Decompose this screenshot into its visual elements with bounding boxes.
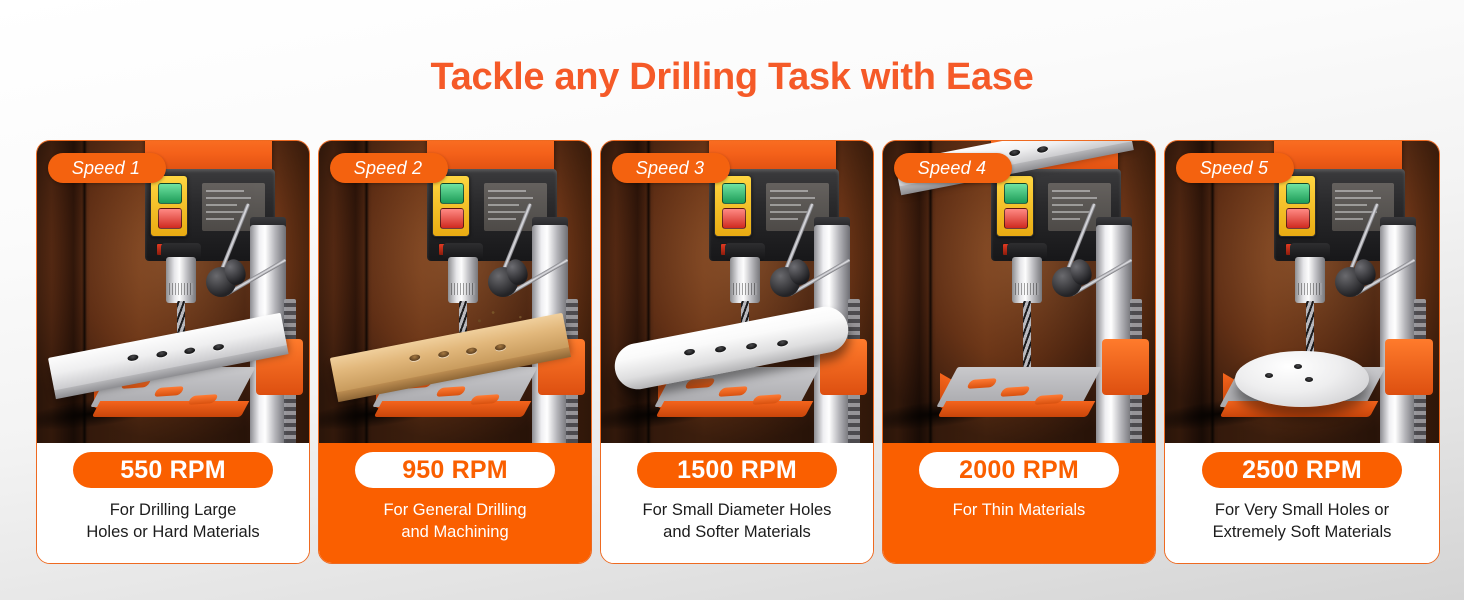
- card-photo: Speed 3: [601, 141, 873, 445]
- worktable-front: [373, 401, 531, 417]
- rpm-badge: 2000 RPM: [919, 452, 1119, 488]
- red-stop-button-icon: [440, 208, 464, 229]
- card-photo: Speed 2: [319, 141, 591, 445]
- chrome-column: [1380, 225, 1416, 445]
- card-photo: Speed 1: [37, 141, 309, 445]
- wall-seam: [364, 141, 369, 445]
- speed-card[interactable]: Speed 1 550 RPM For Drilling Large Holes…: [36, 140, 310, 564]
- chrome-column: [1096, 225, 1132, 445]
- card-footer: 550 RPM For Drilling Large Holes or Hard…: [37, 443, 309, 563]
- card-description: For Very Small Holes or Extremely Soft M…: [1176, 499, 1428, 543]
- card-footer: 2500 RPM For Very Small Holes or Extreme…: [1165, 443, 1439, 563]
- rpm-badge: 2500 RPM: [1202, 452, 1402, 488]
- green-start-button-icon: [158, 183, 182, 204]
- drill-bit: [1023, 301, 1031, 375]
- wall-seam: [646, 141, 651, 445]
- speed-card[interactable]: Speed 5 2500 RPM For Very Small Holes or…: [1164, 140, 1440, 564]
- table-bracket: [1102, 339, 1149, 395]
- drill-chuck: [730, 257, 760, 303]
- drill-chuck: [1012, 257, 1042, 303]
- rpm-badge: 1500 RPM: [637, 452, 837, 488]
- red-stop-button-icon: [722, 208, 746, 229]
- card-description: For Drilling Large Holes or Hard Materia…: [48, 499, 298, 543]
- drill-chuck: [1295, 257, 1325, 303]
- page-title: Tackle any Drilling Task with Ease: [0, 56, 1464, 99]
- red-stop-button-icon: [1286, 208, 1310, 229]
- card-footer: 2000 RPM For Thin Materials: [883, 443, 1155, 563]
- speed-badge: Speed 3: [612, 153, 730, 183]
- card-photo: Speed 5: [1165, 141, 1439, 445]
- speed-badge: Speed 4: [894, 153, 1012, 183]
- green-start-button-icon: [1286, 183, 1310, 204]
- worktable-front: [655, 401, 813, 417]
- wall-seam: [82, 141, 87, 445]
- drill-press-illustration: [319, 141, 591, 445]
- worktable-front: [91, 401, 249, 417]
- speed-card[interactable]: Speed 3 1500 RPM For Small Diameter Hole…: [600, 140, 874, 564]
- table-bracket: [1385, 339, 1432, 395]
- green-start-button-icon: [722, 183, 746, 204]
- red-stop-button-icon: [1004, 208, 1028, 229]
- drill-press-illustration: [37, 141, 309, 445]
- speed-badge: Speed 5: [1176, 153, 1294, 183]
- card-footer: 950 RPM For General Drilling and Machini…: [319, 443, 591, 563]
- speed-card-list: Speed 1 550 RPM For Drilling Large Holes…: [36, 140, 1428, 564]
- red-stop-button-icon: [158, 208, 182, 229]
- speed-card[interactable]: Speed 4 2000 RPM For Thin Materials: [882, 140, 1156, 564]
- drill-chuck: [448, 257, 478, 303]
- card-footer: 1500 RPM For Small Diameter Holes and So…: [601, 443, 873, 563]
- workpiece-round-disc: [1235, 351, 1368, 407]
- rpm-badge: 950 RPM: [355, 452, 555, 488]
- wall-seam: [1210, 141, 1215, 445]
- switch-box: [1278, 175, 1316, 237]
- switch-box: [996, 175, 1034, 237]
- card-description: For Small Diameter Holes and Softer Mate…: [612, 499, 862, 543]
- drill-press-illustration: [1165, 141, 1439, 445]
- speed-card[interactable]: Speed 2 950 RPM For General Drilling and…: [318, 140, 592, 564]
- card-photo: Speed 4: [883, 141, 1155, 445]
- switch-box: [150, 175, 188, 237]
- card-description: For General Drilling and Machining: [330, 499, 580, 543]
- drill-chuck: [166, 257, 196, 303]
- switch-box: [432, 175, 470, 237]
- worktable-front: [937, 401, 1095, 417]
- rpm-badge: 550 RPM: [73, 452, 273, 488]
- drill-press-illustration: [601, 141, 873, 445]
- drill-press-illustration: [883, 141, 1155, 445]
- speed-badge: Speed 1: [48, 153, 166, 183]
- switch-box: [714, 175, 752, 237]
- card-description: For Thin Materials: [894, 499, 1144, 521]
- green-start-button-icon: [440, 183, 464, 204]
- speed-badge: Speed 2: [330, 153, 448, 183]
- promo-banner: Tackle any Drilling Task with Ease: [0, 0, 1464, 600]
- green-start-button-icon: [1004, 183, 1028, 204]
